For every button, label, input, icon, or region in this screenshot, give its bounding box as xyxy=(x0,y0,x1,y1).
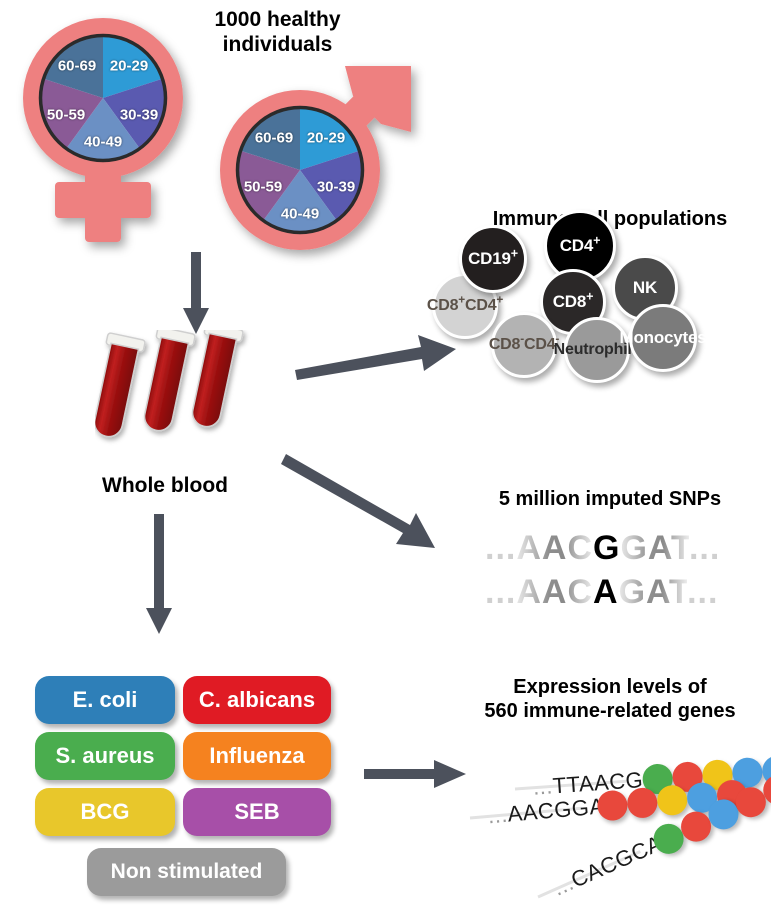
immune-cell-label-line: CD8+ xyxy=(427,298,465,314)
immune-cell-label-line: CD19+ xyxy=(468,250,518,267)
gene-expression-bead xyxy=(626,787,659,820)
immune-cell-label-line: cytes xyxy=(664,329,706,346)
figure-canvas: 1000 healthy individuals xyxy=(0,0,771,922)
immune-cell-label-line: NK xyxy=(633,279,657,296)
immune-cell-label-line: CD8- xyxy=(489,337,524,353)
immune-cell-label-line: Neutro xyxy=(554,342,604,358)
immune-cell-label-line: CD4+ xyxy=(465,298,503,314)
immune-cell-cd19: CD19+ xyxy=(459,225,527,293)
immune-cell-cd8n-cd4n: CD8-CD4- xyxy=(491,312,557,378)
immune-cell-label-line: CD8+ xyxy=(553,293,594,310)
gene-expression-bead xyxy=(656,784,689,817)
immune-cell-monocytes: Monocytes xyxy=(629,304,697,372)
gene-expression-strands: ...TTAACGG ...AACGGAT ...CACGCAA xyxy=(0,0,771,922)
immune-cell-neutrophils: Neutrophils xyxy=(564,317,630,383)
immune-cell-label-line: CD4+ xyxy=(560,237,601,254)
immune-cell-label-line: Mono xyxy=(620,329,665,346)
